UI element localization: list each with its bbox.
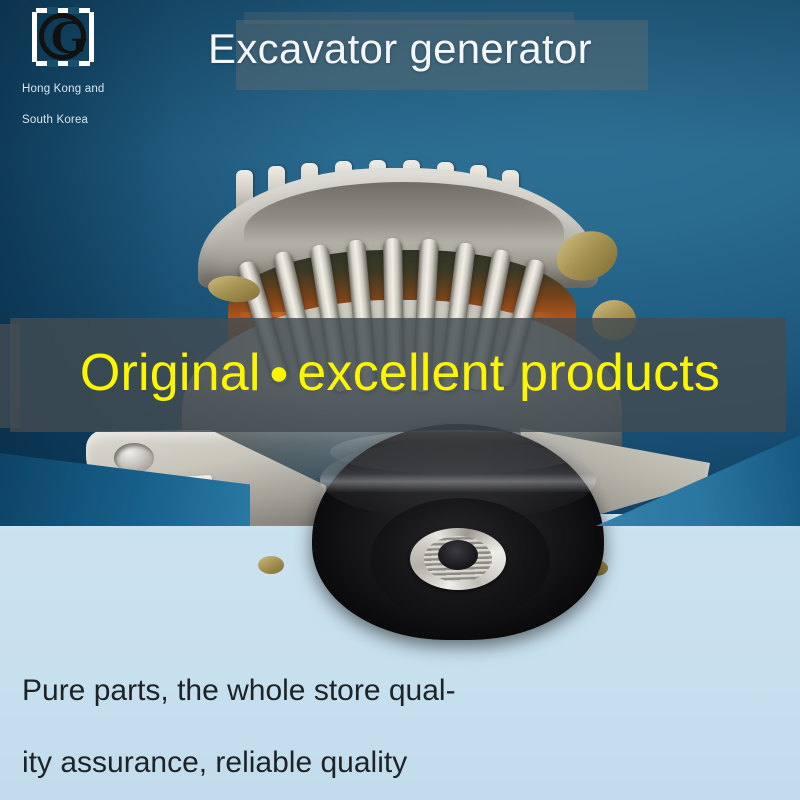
brand-logo-block: G Hong Kong and South Korea [22, 8, 172, 128]
g-monogram-logo-icon: G [32, 8, 94, 66]
footer-line-1: Pure parts, the whole store qual- [22, 655, 762, 727]
footer-line-2: ity assurance, reliable quality [22, 727, 762, 799]
pulley-shaft-bore [438, 540, 478, 570]
product-promo-banner: G Hong Kong and South Korea Excavator ge… [0, 0, 800, 800]
slogan-text: Original●excellent products [0, 330, 800, 416]
slogan-part-1: Original [80, 344, 261, 402]
brass-screw [258, 556, 284, 574]
footer-copy: Pure parts, the whole store qual- ity as… [22, 655, 762, 799]
slogan-bullet-icon: ● [261, 354, 298, 392]
brand-location-line-2: South Korea [22, 113, 172, 128]
logo-letter: G [38, 10, 100, 68]
slogan-part-2: excellent products [297, 344, 720, 402]
brand-location-line-1: Hong Kong and [22, 82, 172, 97]
